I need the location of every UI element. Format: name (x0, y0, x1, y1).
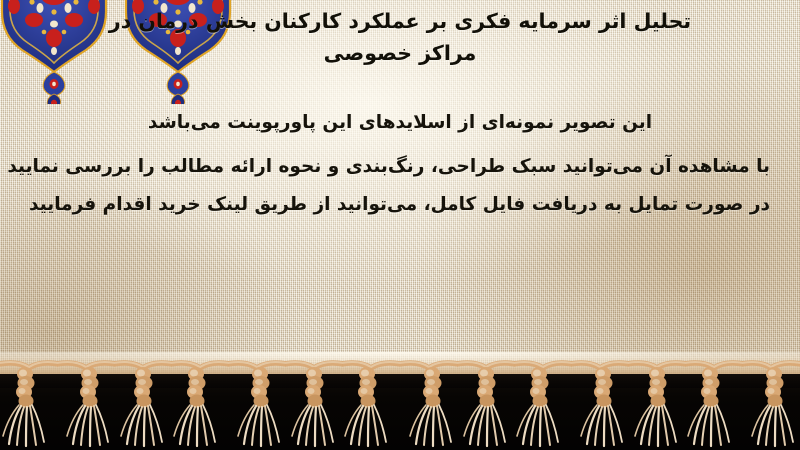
tassel (171, 352, 229, 448)
tassel (342, 352, 400, 448)
tassel (0, 352, 58, 448)
slide-body-text: این تصویر نمونه‌ای از اسلایدهای این پاور… (30, 104, 770, 224)
tassel (514, 352, 572, 448)
tassel (628, 352, 686, 448)
tassel (228, 352, 286, 448)
knotted-tassel-fringe (0, 352, 800, 450)
persian-medallion-ornament-left (0, 0, 114, 104)
title-line-2: مراکز خصوصی (100, 38, 700, 70)
title-line-1: تحلیل اثر سرمایه فکری بر عملکرد کارکنان … (100, 6, 700, 38)
tassel (685, 352, 743, 448)
slide-canvas: تحلیل اثر سرمایه فکری بر عملکرد کارکنان … (0, 0, 800, 450)
tassel (114, 352, 172, 448)
tassel (57, 352, 115, 448)
slide-title: تحلیل اثر سرمایه فکری بر عملکرد کارکنان … (100, 6, 700, 70)
body-line-3: در صورت تمایل به دریافت فایل کامل، می‌تو… (30, 186, 770, 224)
tassel (742, 352, 800, 448)
tassel (285, 352, 343, 448)
tassel (571, 352, 629, 448)
tassel (400, 352, 458, 448)
body-line-2: با مشاهده آن می‌توانید سبک طراحی، رنگ‌بن… (30, 148, 770, 186)
body-line-1: این تصویر نمونه‌ای از اسلایدهای این پاور… (30, 104, 770, 142)
tassel (457, 352, 515, 448)
